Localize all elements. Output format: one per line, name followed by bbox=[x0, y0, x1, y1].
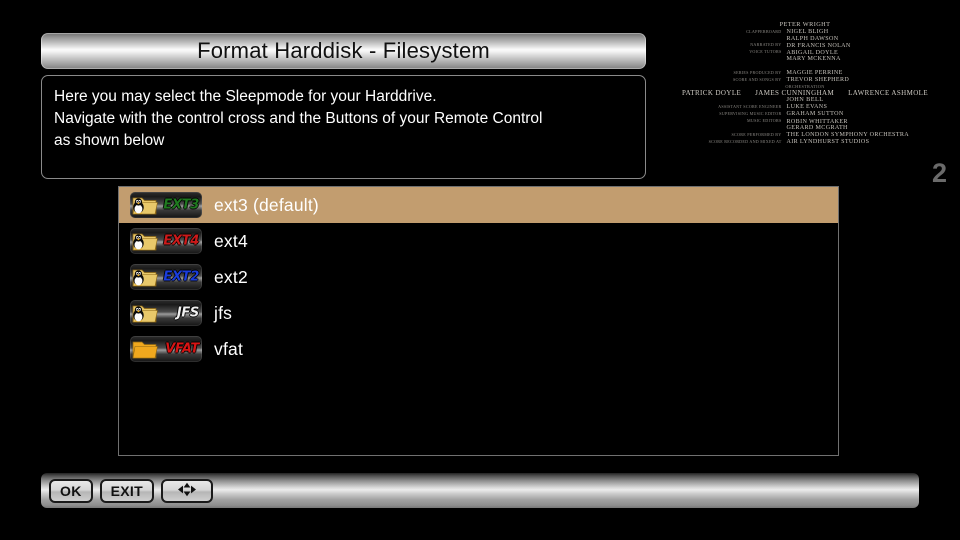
filesystem-badge: EXT3 bbox=[163, 199, 199, 212]
credits-names: Air Lyndhurst Studios bbox=[787, 139, 937, 146]
filesystem-row[interactable]: VFATvfat bbox=[119, 331, 838, 367]
description-box: Here you may select the Sleepmode for yo… bbox=[41, 75, 646, 179]
channel-logo: 2 bbox=[932, 160, 947, 187]
action-bar: OKEXIT bbox=[41, 473, 919, 508]
credits-role: Narrated by bbox=[674, 43, 787, 48]
credits-names: Maggie Perrine bbox=[787, 70, 937, 77]
ext2-folder-icon: EXT2 bbox=[130, 264, 202, 290]
credits-row: ClapperboardNigel BlighRalph Dawson bbox=[650, 29, 960, 42]
credits-names: Dr Francis Nolan bbox=[787, 43, 937, 50]
filesystem-badge: EXT4 bbox=[163, 235, 199, 248]
filesystem-badge: VFAT bbox=[165, 343, 199, 356]
set-top-box-screen: Peter WrightClapperboardNigel BlighRalph… bbox=[0, 0, 960, 540]
credits-role: Supervising Music Editor bbox=[674, 111, 787, 116]
credits-row: Score Performed byThe London Symphony Or… bbox=[650, 132, 960, 139]
dpad-button[interactable] bbox=[161, 479, 213, 503]
credits-names: Trevor Shepherd bbox=[787, 77, 937, 84]
vfat-folder-icon: VFAT bbox=[130, 336, 202, 362]
ok-button-label: OK bbox=[60, 483, 82, 499]
credits-row: Score Recorded and Mixed atAir Lyndhurst… bbox=[650, 139, 960, 146]
exit-button-label: EXIT bbox=[111, 483, 143, 499]
credits-role: Voice Tutors bbox=[674, 50, 787, 55]
credits-role: Clapperboard bbox=[674, 29, 787, 34]
credits-role: Score Recorded and Mixed at bbox=[674, 139, 787, 144]
credits-role: Music Editors bbox=[674, 119, 787, 124]
filesystem-row[interactable]: EXT2ext2 bbox=[119, 259, 838, 295]
exit-button[interactable]: EXIT bbox=[100, 479, 154, 503]
credits-names: Abigail DoyleMary McKenna bbox=[787, 50, 937, 63]
credits-row: Assistant Score EngineerLuke Evans bbox=[650, 104, 960, 111]
credits-center: John Bell bbox=[650, 97, 960, 104]
filesystem-label: ext4 bbox=[214, 231, 248, 252]
filesystem-badge: JFS bbox=[177, 307, 199, 320]
page-title: Format Harddisk - Filesystem bbox=[197, 38, 490, 64]
filesystem-row[interactable]: JFSjfs bbox=[119, 295, 838, 331]
credits-names: Luke Evans bbox=[787, 104, 937, 111]
credits-names: Graham Sutton bbox=[787, 111, 937, 118]
credits-center: Peter Wright bbox=[650, 22, 960, 29]
filesystem-label: jfs bbox=[214, 303, 232, 324]
description-text: Here you may select the Sleepmode for yo… bbox=[54, 86, 633, 152]
video-preview: Peter WrightClapperboardNigel BlighRalph… bbox=[650, 20, 960, 195]
filesystem-list[interactable]: EXT3ext3 (default) EXT4ext4 bbox=[118, 186, 839, 456]
filesystem-row[interactable]: EXT3ext3 (default) bbox=[119, 187, 838, 223]
window-title-bar: Format Harddisk - Filesystem bbox=[41, 33, 646, 69]
filesystem-badge: EXT2 bbox=[163, 271, 199, 284]
filesystem-label: vfat bbox=[214, 339, 243, 360]
credits-names: The London Symphony Orchestra bbox=[787, 132, 937, 139]
jfs-folder-icon: JFS bbox=[130, 300, 202, 326]
credits-role: Assistant Score Engineer bbox=[674, 104, 787, 109]
credits-names: Nigel BlighRalph Dawson bbox=[787, 29, 937, 42]
filesystem-label: ext2 bbox=[214, 267, 248, 288]
credits-role: Score Performed by bbox=[674, 132, 787, 137]
credits-role: Series Produced by bbox=[674, 70, 787, 75]
credits-row: Series Produced byMaggie Perrine bbox=[650, 70, 960, 77]
credits-row: Voice TutorsAbigail DoyleMary McKenna bbox=[650, 50, 960, 63]
ok-button[interactable]: OK bbox=[49, 479, 93, 503]
ext4-folder-icon: EXT4 bbox=[130, 228, 202, 254]
credits-gap bbox=[650, 63, 960, 70]
credits-row: Narrated byDr Francis Nolan bbox=[650, 43, 960, 50]
ext3-folder-icon: EXT3 bbox=[130, 192, 202, 218]
credits-names: Robin WhittakerGerard McGrath bbox=[787, 119, 937, 132]
filesystem-row[interactable]: EXT4ext4 bbox=[119, 223, 838, 259]
dpad-icon bbox=[170, 482, 204, 500]
credits-role: Score and Songs by bbox=[674, 77, 787, 82]
credits-roll: Peter WrightClapperboardNigel BlighRalph… bbox=[650, 22, 960, 146]
credits-row: Score and Songs byTrevor Shepherd bbox=[650, 77, 960, 84]
filesystem-label: ext3 (default) bbox=[214, 195, 319, 216]
credits-row: Music EditorsRobin WhittakerGerard McGra… bbox=[650, 119, 960, 132]
credits-row: Supervising Music EditorGraham Sutton bbox=[650, 111, 960, 118]
